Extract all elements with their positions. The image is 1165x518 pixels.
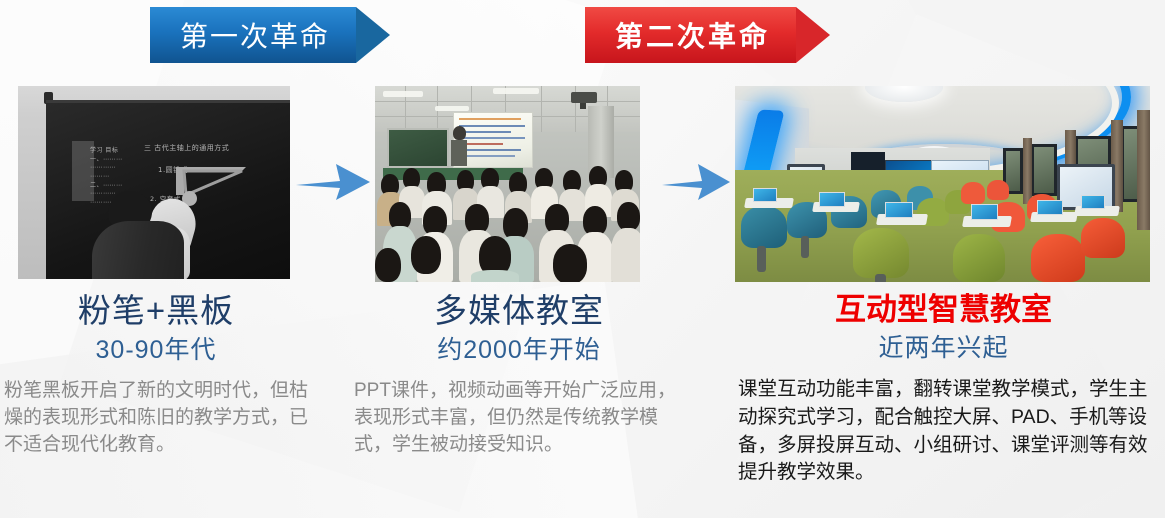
banner-second-revolution: 第二次革命 [585, 7, 830, 63]
column-2-paragraph: PPT课件，视频动画等开始广泛应用，表现形式丰富，但仍然是传统教学模式，学生被动… [340, 378, 698, 459]
column-smart-classroom: 互动型智慧教室 近两年兴起 课堂互动功能丰富，翻转课堂教学模式，学生主动探究式学… [722, 292, 1165, 487]
banner-chevron-tip-icon [356, 7, 390, 63]
arrow-stage1-to-stage2-icon [296, 158, 372, 206]
column-2-headline: 多媒体教室 [340, 292, 698, 330]
column-3-headline: 互动型智慧教室 [722, 292, 1165, 328]
arrow-stage2-to-stage3-icon [662, 158, 732, 206]
column-1-paragraph: 粉笔黑板开启了新的文明时代，但枯燥的表现形式和陈旧的教学方式，已不适合现代化教育… [0, 378, 312, 459]
banner-first-revolution-label: 第一次革命 [150, 7, 356, 63]
photo-chalk-blackboard-classroom: 学习 目标 一、⋯⋯⋯ ⋯⋯⋯⋯ ⋯⋯⋯ 二、⋯⋯⋯ ⋯⋯⋯⋯ ⋯⋯⋯⋯ 三 古… [18, 86, 290, 279]
photo-multimedia-lecture-hall [375, 86, 640, 282]
column-chalk-blackboard: 粉笔+黑板 30-90年代 粉笔黑板开启了新的文明时代，但枯燥的表现形式和陈旧的… [0, 292, 312, 459]
column-2-subline: 约2000年开始 [340, 334, 698, 367]
banner-chevron-tip-icon [796, 7, 830, 63]
banner-second-revolution-label: 第二次革命 [585, 7, 796, 63]
banner-first-revolution: 第一次革命 [150, 7, 390, 63]
photo-interactive-smart-classroom [735, 86, 1150, 282]
column-1-headline: 粉笔+黑板 [0, 292, 312, 330]
column-3-paragraph: 课堂互动功能丰富，翻转课堂教学模式，学生主动探究式学习，配合触控大屏、PAD、手… [722, 376, 1165, 487]
column-3-subline: 近两年兴起 [722, 332, 1165, 365]
column-multimedia-classroom: 多媒体教室 约2000年开始 PPT课件，视频动画等开始广泛应用，表现形式丰富，… [340, 292, 698, 459]
column-1-subline: 30-90年代 [0, 334, 312, 367]
